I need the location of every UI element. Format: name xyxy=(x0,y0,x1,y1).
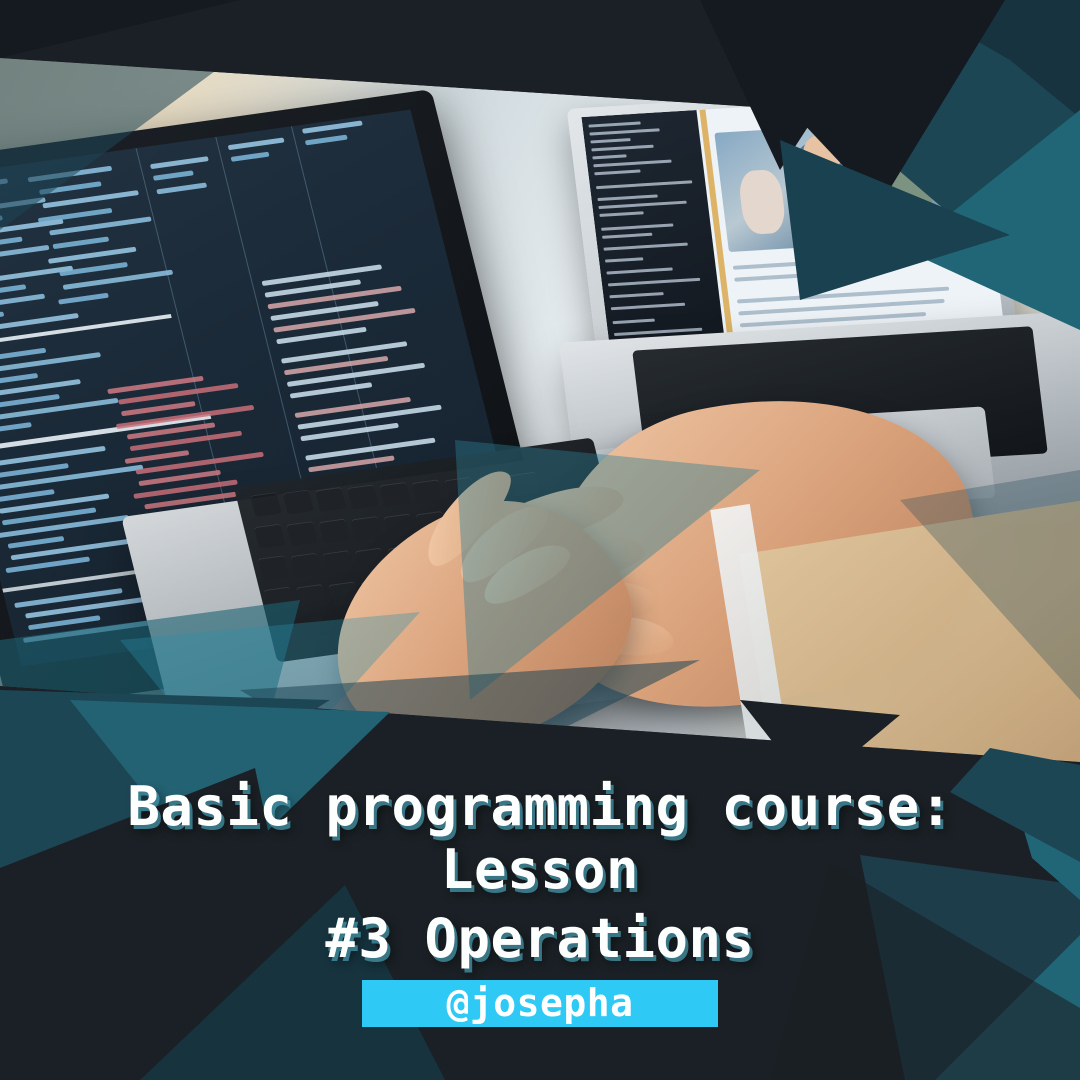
social-post-poster: Basic programming course: Lesson #3 Oper… xyxy=(0,0,1080,1080)
handle-label: @josepha xyxy=(446,980,633,1027)
page-title: Basic programming course: Lesson #3 Oper… xyxy=(0,775,1080,970)
title-line-1: Basic programming course: Lesson xyxy=(34,775,1046,901)
handle-badge[interactable]: @josepha xyxy=(362,980,718,1027)
title-line-2: #3 Operations xyxy=(34,907,1046,970)
